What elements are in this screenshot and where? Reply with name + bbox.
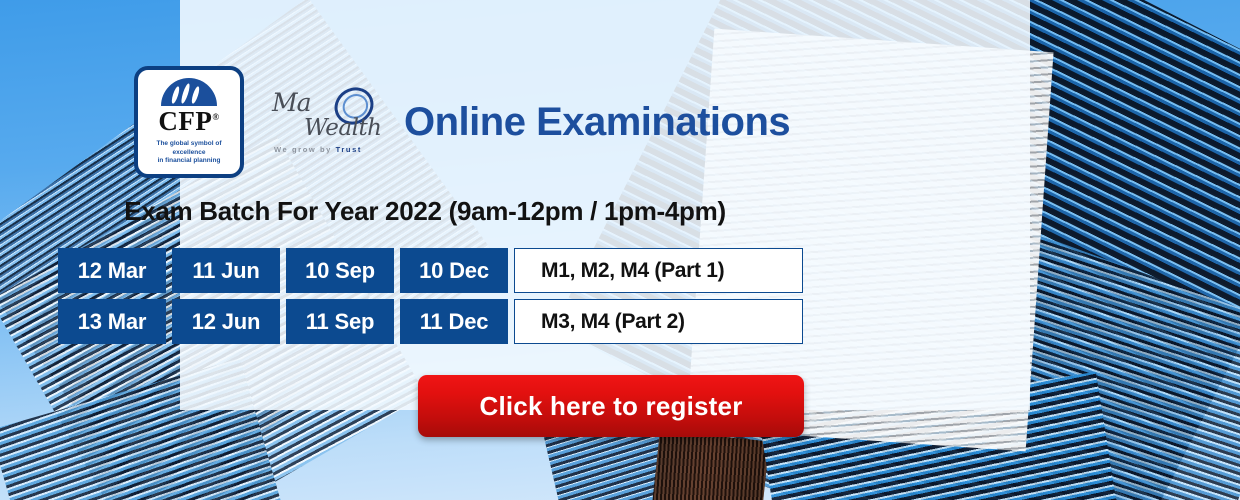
- table-row: 13 Mar 12 Jun 11 Sep 11 Dec M3, M4 (Part…: [58, 299, 803, 344]
- max-wealth-word-2: Wealth: [304, 115, 382, 141]
- date-cell: 11 Sep: [286, 299, 394, 344]
- building-bottom-center-dark: [644, 430, 769, 500]
- cfp-registered-mark: ®: [212, 112, 219, 122]
- date-cell: 11 Dec: [400, 299, 508, 344]
- exam-schedule-table: 12 Mar 11 Jun 10 Sep 10 Dec M1, M2, M4 (…: [58, 248, 803, 350]
- date-cell: 10 Dec: [400, 248, 508, 293]
- date-cell: 10 Sep: [286, 248, 394, 293]
- cfp-flame-icon: [161, 78, 217, 106]
- header-row: CFP® The global symbol of excellence in …: [0, 62, 850, 182]
- date-cell: 12 Jun: [172, 299, 280, 344]
- cfp-wordmark-text: CFP: [158, 106, 212, 136]
- modules-cell: M1, M2, M4 (Part 1): [514, 248, 803, 293]
- exam-batch-subtitle: Exam Batch For Year 2022 (9am-12pm / 1pm…: [0, 196, 850, 227]
- cfp-wordmark: CFP®: [158, 108, 219, 135]
- max-wealth-tagline-prefix: We grow by: [274, 145, 336, 154]
- max-wealth-logo: Ma Wealth We grow by Trust: [270, 82, 380, 162]
- cfp-tagline-line-2: in financial planning: [142, 157, 236, 166]
- register-button[interactable]: Click here to register: [418, 375, 804, 437]
- cfp-logo: CFP® The global symbol of excellence in …: [134, 66, 244, 178]
- max-wealth-word-1: Ma: [272, 88, 311, 117]
- cfp-tagline-line-1: The global symbol of excellence: [142, 140, 236, 158]
- modules-cell: M3, M4 (Part 2): [514, 299, 803, 344]
- table-row: 12 Mar 11 Jun 10 Sep 10 Dec M1, M2, M4 (…: [58, 248, 803, 293]
- page-title: Online Examinations: [404, 100, 790, 145]
- cfp-tagline: The global symbol of excellence in finan…: [142, 140, 236, 166]
- max-wealth-tagline-accent: Trust: [336, 145, 362, 154]
- date-cell: 11 Jun: [172, 248, 280, 293]
- date-cell: 12 Mar: [58, 248, 166, 293]
- date-cell: 13 Mar: [58, 299, 166, 344]
- max-wealth-tagline: We grow by Trust: [274, 145, 362, 154]
- exam-banner: CFP® The global symbol of excellence in …: [0, 0, 1240, 500]
